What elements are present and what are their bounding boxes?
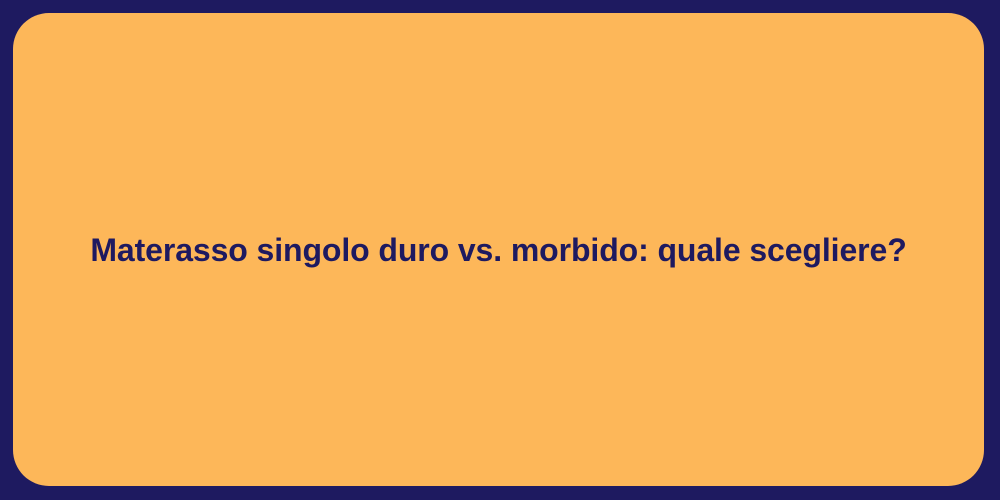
banner-headline: Materasso singolo duro vs. morbido: qual… — [90, 230, 906, 270]
banner-card: Materasso singolo duro vs. morbido: qual… — [13, 13, 984, 486]
banner-background: Materasso singolo duro vs. morbido: qual… — [0, 0, 1000, 500]
